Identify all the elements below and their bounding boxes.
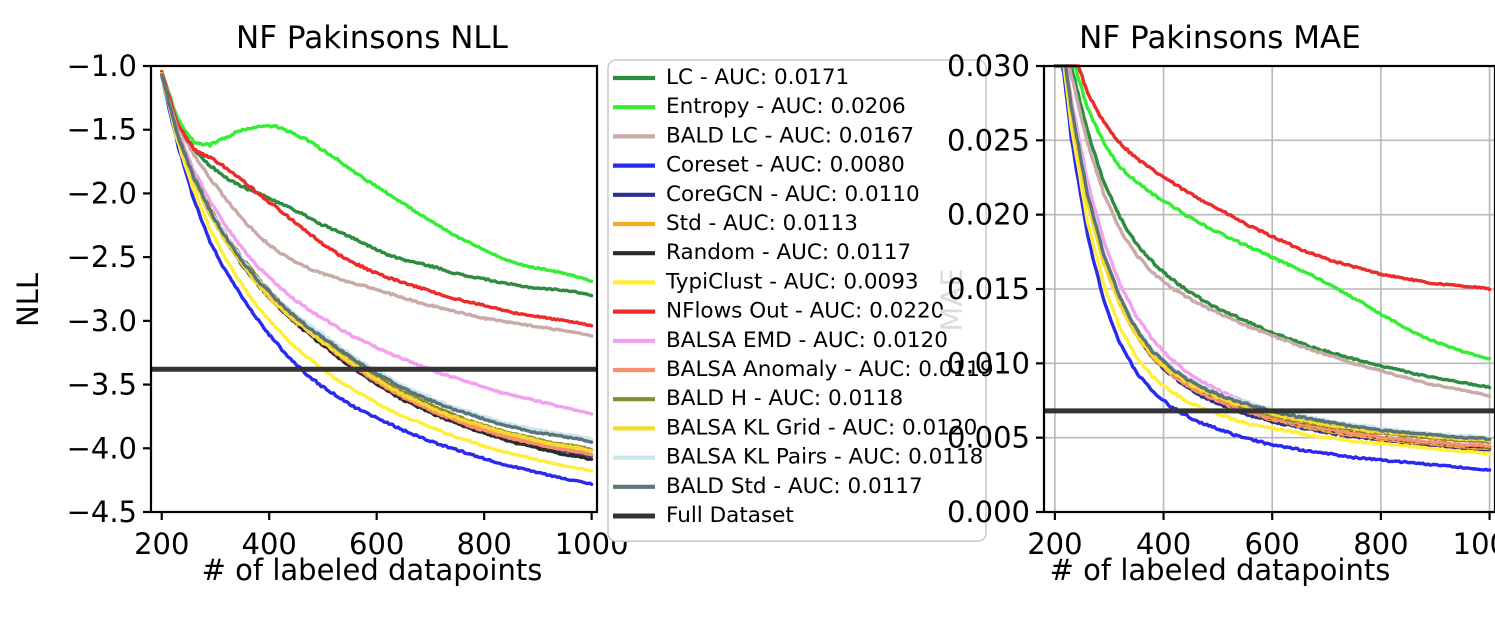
- y-tick-label: −2.5: [67, 240, 137, 274]
- mae-x-axis-label: # of labeled datapoints: [1050, 553, 1391, 587]
- legend-label-lc: LC - AUC: 0.0171: [666, 65, 849, 90]
- x-tick-label: 400: [1136, 527, 1191, 561]
- legend-label-bald_std: BALD Std - AUC: 0.0117: [666, 474, 923, 499]
- y-tick-label: −2.0: [67, 176, 137, 210]
- nll-svg: NF Pakinsons NLL NLL # of labeled datapo…: [0, 0, 600, 623]
- nll-plot-area: 2004006008001000−4.5−4.0−3.5−3.0−2.5−2.0…: [67, 49, 629, 561]
- x-tick-label: 200: [134, 527, 189, 561]
- legend-label-std: Std - AUC: 0.0113: [666, 211, 858, 236]
- legend-label-entropy: Entropy - AUC: 0.0206: [666, 94, 906, 119]
- mae-title: NF Pakinsons MAE: [1079, 20, 1361, 56]
- nll-title: NF Pakinsons NLL: [236, 20, 509, 56]
- y-tick-label: −4.0: [67, 431, 137, 465]
- y-tick-label: 0.020: [947, 198, 1030, 232]
- series-line-bald_lc: [162, 73, 592, 335]
- y-tick-label: −4.5: [67, 495, 137, 529]
- x-tick-label: 400: [242, 527, 297, 561]
- mae-panel: MAE NF Pakinsons MAE # of labeled datapo…: [900, 0, 1495, 623]
- x-tick-label: 800: [456, 527, 511, 561]
- x-tick-label: 600: [1245, 527, 1300, 561]
- x-tick-label: 1000: [1453, 527, 1495, 561]
- x-tick-label: 800: [1353, 527, 1408, 561]
- y-tick-label: −1.5: [67, 113, 137, 147]
- y-tick-label: −1.0: [67, 49, 137, 83]
- mae-svg: MAE NF Pakinsons MAE # of labeled datapo…: [900, 0, 1495, 623]
- legend-label-typiclust: TypiClust - AUC: 0.0093: [665, 269, 919, 294]
- nll-panel: NF Pakinsons NLL NLL # of labeled datapo…: [0, 0, 600, 623]
- legend-label-full_dataset: Full Dataset: [666, 503, 794, 528]
- y-tick-label: −3.5: [67, 368, 137, 402]
- y-tick-label: 0.005: [947, 421, 1030, 455]
- legend-label-bald_lc: BALD LC - AUC: 0.0167: [666, 123, 914, 148]
- y-tick-label: 0.015: [947, 272, 1030, 306]
- nll-y-axis-label: NLL: [11, 273, 45, 327]
- y-tick-label: 0.010: [947, 346, 1030, 380]
- y-tick-label: 0.030: [947, 49, 1030, 83]
- figure-canvas: NF Pakinsons NLL NLL # of labeled datapo…: [0, 0, 1495, 623]
- y-tick-label: 0.025: [947, 123, 1030, 157]
- legend-label-coreset: Coreset - AUC: 0.0080: [666, 153, 905, 178]
- legend-label-random: Random - AUC: 0.0117: [666, 240, 911, 265]
- legend-label-coregcn: CoreGCN - AUC: 0.0110: [666, 182, 920, 207]
- y-tick-label: −3.0: [67, 304, 137, 338]
- legend-label-bald_h: BALD H - AUC: 0.0118: [666, 386, 903, 411]
- x-tick-label: 600: [349, 527, 404, 561]
- x-tick-label: 200: [1027, 527, 1082, 561]
- y-tick-label: 0.000: [947, 495, 1030, 529]
- mae-plot-area: 20040060080010000.0000.0050.0100.0150.02…: [947, 49, 1495, 561]
